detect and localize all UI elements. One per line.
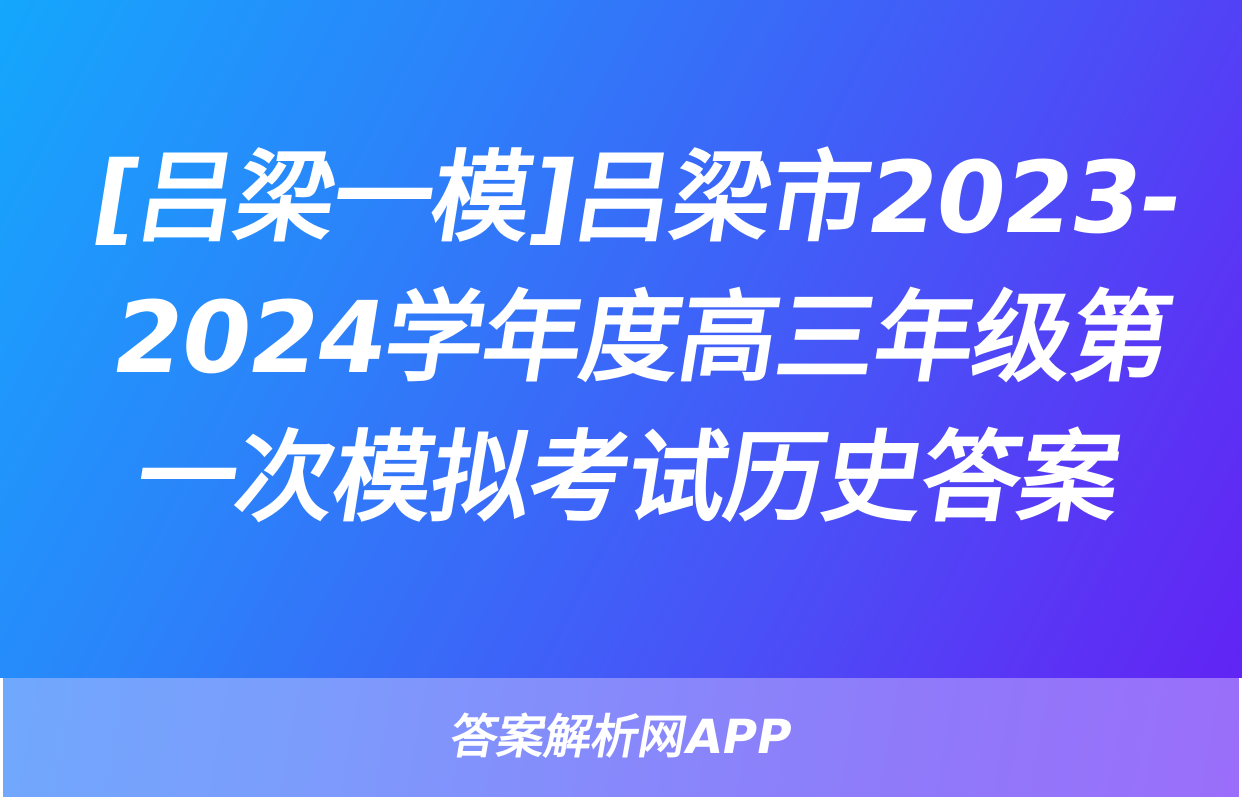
- poster-canvas: [吕梁一模]吕梁市2023- 2024学年度高三年级第 一次模拟考试历史答案 答…: [0, 0, 1242, 800]
- title-line-1: [吕梁一模]吕梁市2023-: [83, 129, 1191, 269]
- title-line-2: 2024学年度高三年级第: [83, 269, 1181, 409]
- poster-title: [吕梁一模]吕梁市2023- 2024学年度高三年级第 一次模拟考试历史答案: [0, 0, 1242, 678]
- brand-footer-band: 答案解析网APP: [3, 678, 1239, 797]
- hero-gradient-background: [吕梁一模]吕梁市2023- 2024学年度高三年级第 一次模拟考试历史答案: [0, 0, 1242, 678]
- title-line-3: 一次模拟考试历史答案: [83, 409, 1129, 549]
- brand-watermark-label: 答案解析网APP: [447, 714, 796, 761]
